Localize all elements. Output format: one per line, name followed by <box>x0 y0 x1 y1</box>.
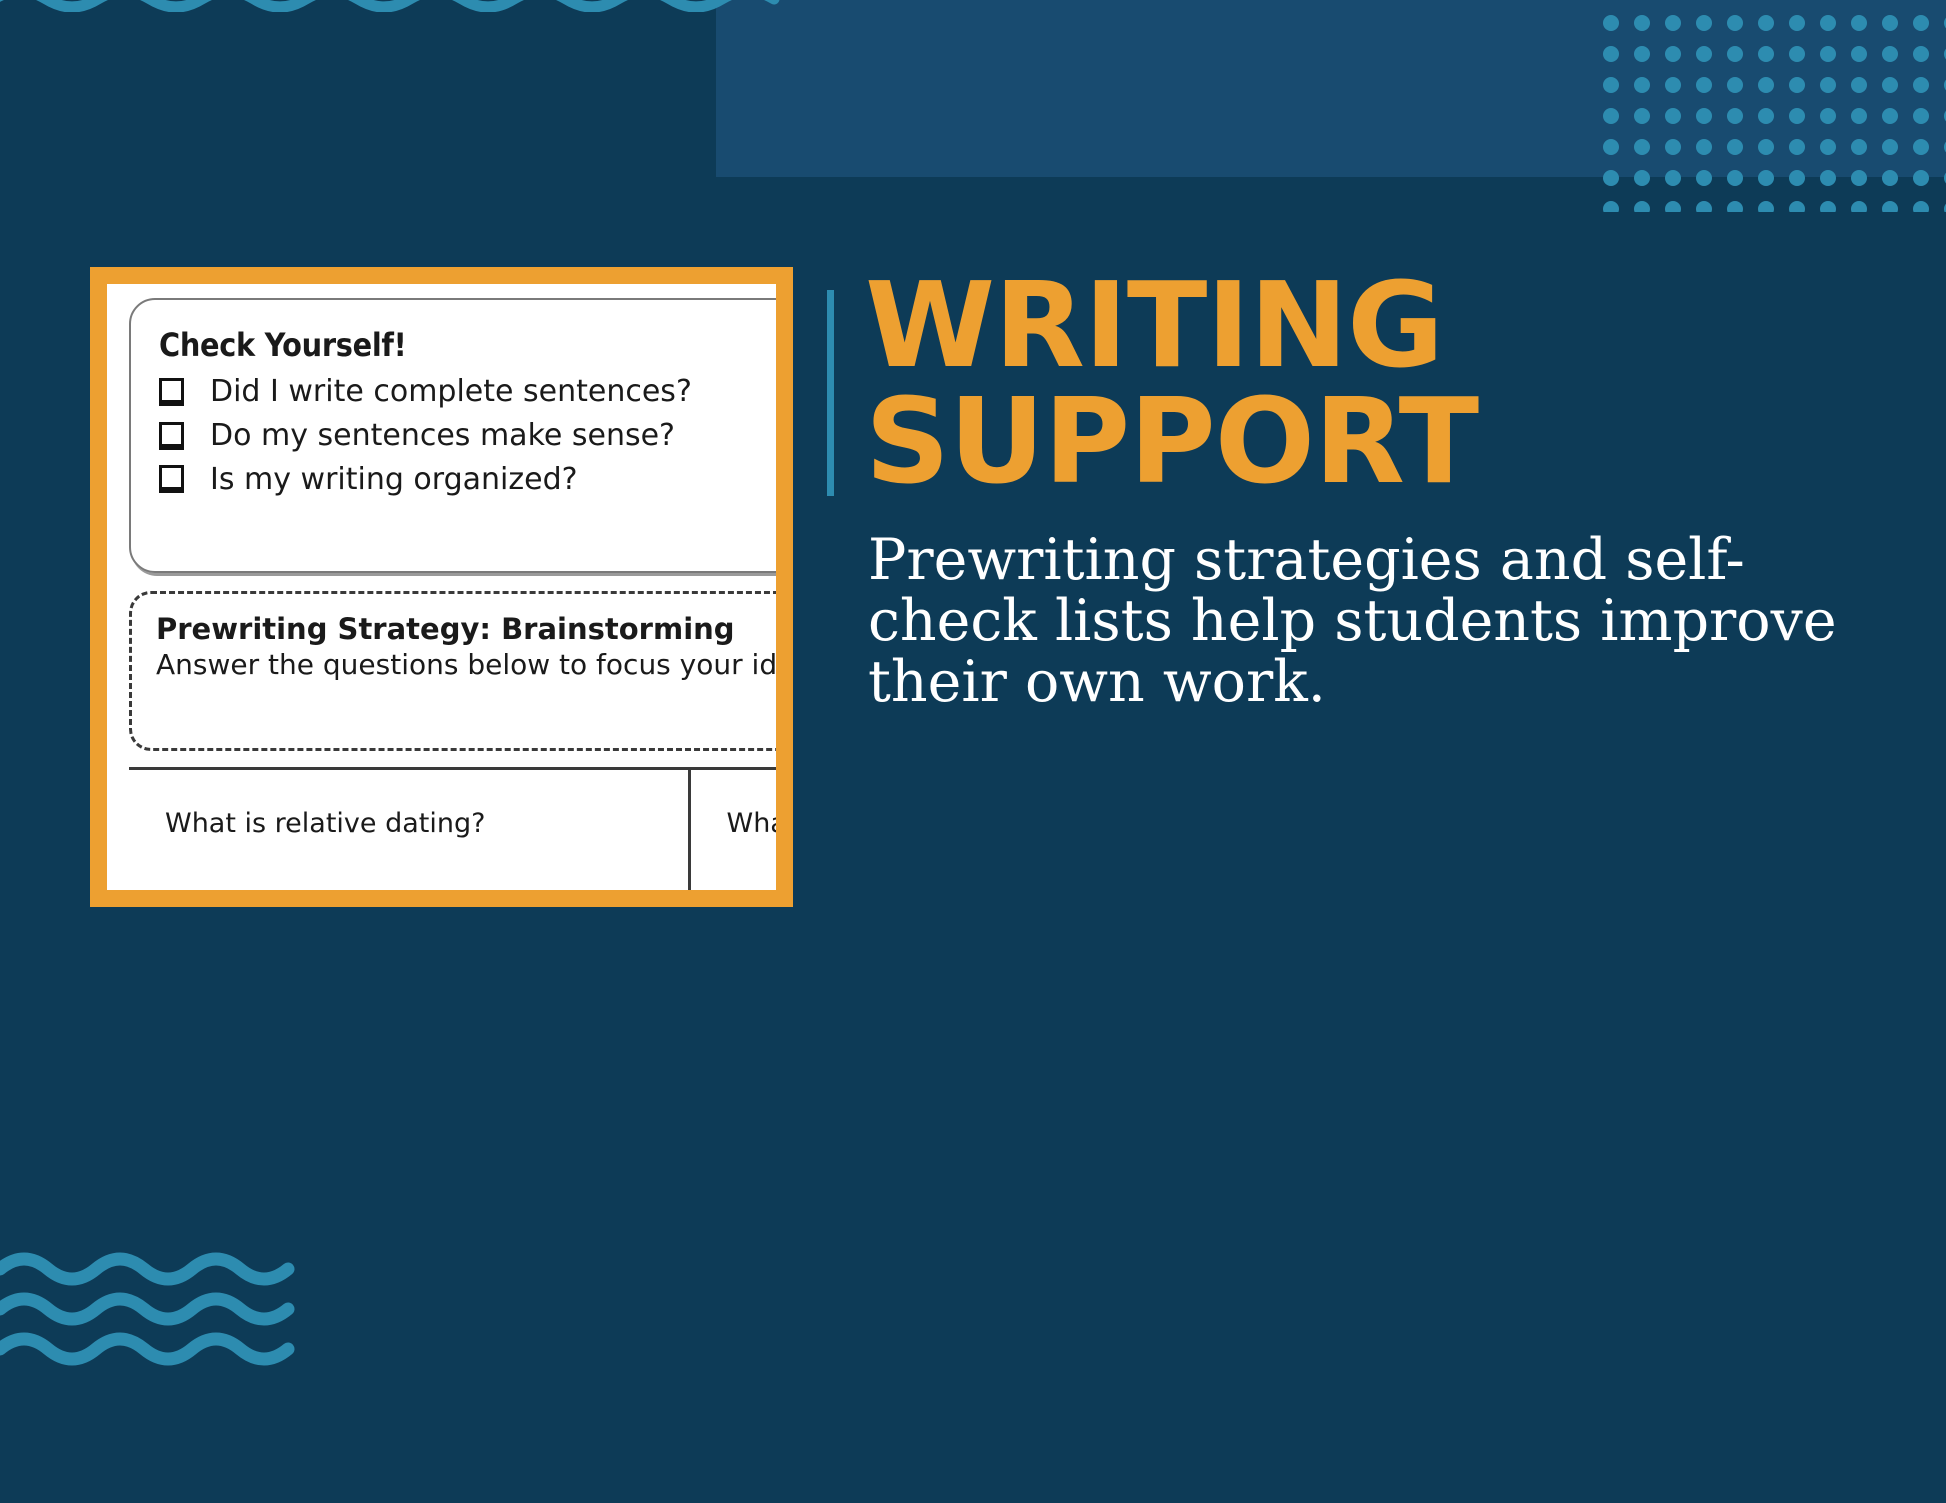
worksheet-image: Check Yourself! Did I write complete sen… <box>107 284 776 890</box>
prewriting-strategy-heading: Prewriting Strategy: Brainstorming <box>156 612 776 646</box>
checkbox-icon[interactable] <box>159 378 184 406</box>
checklist-item-label: Did I write complete sentences? <box>210 370 692 414</box>
checklist-item: Did I write complete sentences? <box>159 370 776 414</box>
question-table: What is relative dating? What is absolut… <box>129 767 776 890</box>
checkbox-icon[interactable] <box>159 465 184 493</box>
wave-lines-pattern <box>0 1243 314 1373</box>
prewriting-strategy-card: Prewriting Strategy: Brainstorming Answe… <box>129 591 776 751</box>
checklist-item-label: Is my writing organized? <box>210 458 578 502</box>
check-yourself-list: Did I write complete sentences? Do my se… <box>159 370 776 501</box>
prewriting-strategy-instruction: Answer the questions below to focus your… <box>156 648 776 681</box>
title-accent-bar <box>827 290 834 496</box>
top-wave-pattern <box>0 0 814 12</box>
worksheet-image-frame: Check Yourself! Did I write complete sen… <box>90 267 793 907</box>
worksheet-content: Check Yourself! Did I write complete sen… <box>107 284 776 890</box>
page-title: Writing Support <box>865 268 1885 499</box>
check-yourself-heading: Check Yourself! <box>159 326 776 364</box>
checklist-item: Is my writing organized? <box>159 458 776 502</box>
dot-grid-pattern <box>1603 15 1946 212</box>
page-title-line-2: Support <box>865 384 1885 500</box>
question-cell: What is relative dating? <box>129 770 688 890</box>
checklist-item-label: Do my sentences make sense? <box>210 414 675 458</box>
check-yourself-card: Check Yourself! Did I write complete sen… <box>129 298 776 573</box>
question-cell: What is absolute dating? <box>688 770 777 890</box>
checklist-item: Do my sentences make sense? <box>159 414 776 458</box>
page-title-line-1: Writing <box>865 268 1885 384</box>
slide-canvas: Check Yourself! Did I write complete sen… <box>0 0 1946 1503</box>
page-body-text: Prewriting strategies and self-check lis… <box>868 530 1868 713</box>
checkbox-icon[interactable] <box>159 422 184 450</box>
